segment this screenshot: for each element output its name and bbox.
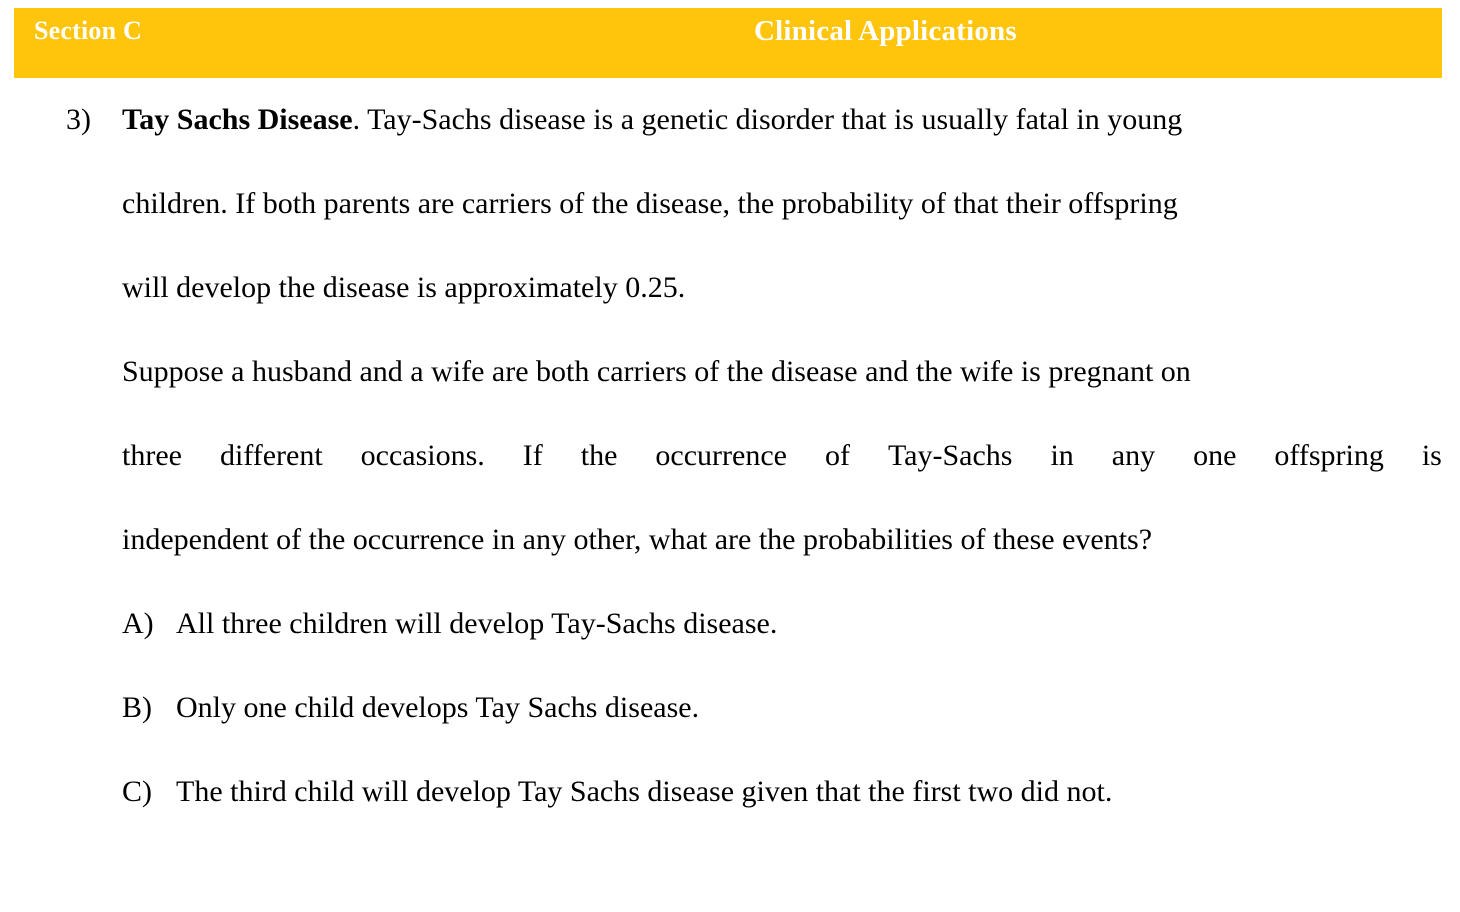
question-line-6: independent of the occurrence in any oth…: [0, 498, 1460, 582]
justified-word: one: [1193, 414, 1236, 498]
question-runin-title: Tay Sachs Disease: [122, 103, 353, 136]
justified-word: three: [122, 414, 182, 498]
sub-item-a-marker: A): [122, 582, 154, 666]
justified-word: any: [1112, 414, 1155, 498]
justified-word: If: [523, 414, 543, 498]
justified-word: in: [1050, 414, 1073, 498]
question-line-4: Suppose a husband and a wife are both ca…: [0, 330, 1460, 414]
question-line-3: will develop the disease is approximatel…: [0, 246, 1460, 330]
question-line-1: Tay Sachs Disease. Tay-Sachs disease is …: [0, 78, 1460, 162]
sub-item-a-text: All three children will develop Tay-Sach…: [0, 582, 1460, 666]
justified-word: occasions.: [361, 414, 485, 498]
question-line-2: children. If both parents are carriers o…: [0, 162, 1460, 246]
section-title: Clinical Applications: [754, 14, 1017, 48]
sub-item-b: B) Only one child develops Tay Sachs dis…: [0, 666, 1460, 750]
justified-word: the: [581, 414, 618, 498]
question-line-5: threedifferentoccasions.Iftheoccurrenceo…: [0, 414, 1460, 498]
sub-item-b-text: Only one child develops Tay Sachs diseas…: [0, 666, 1460, 750]
sub-item-a: A) All three children will develop Tay-S…: [0, 582, 1460, 666]
sub-item-c-text: The third child will develop Tay Sachs d…: [0, 750, 1460, 834]
sub-item-b-marker: B): [122, 666, 152, 750]
justified-word: Tay-Sachs: [888, 414, 1013, 498]
sub-item-c-marker: C): [122, 750, 152, 834]
document-body: 3) Tay Sachs Disease. Tay-Sachs disease …: [0, 78, 1460, 912]
section-label: Section C: [34, 16, 142, 46]
justified-word: different: [220, 414, 323, 498]
justified-word: occurrence: [655, 414, 787, 498]
document-page: Section C Clinical Applications 3) Tay S…: [0, 0, 1460, 912]
sub-item-c: C) The third child will develop Tay Sach…: [0, 750, 1460, 834]
section-header-banner: Section C Clinical Applications: [14, 8, 1442, 78]
justified-word: of: [825, 414, 850, 498]
question-block: 3) Tay Sachs Disease. Tay-Sachs disease …: [0, 78, 1460, 834]
justified-word: offspring: [1274, 414, 1383, 498]
question-number: 3): [66, 78, 118, 162]
question-line-1-text: . Tay-Sachs disease is a genetic disorde…: [353, 103, 1183, 136]
section-header-inner: Section C Clinical Applications: [14, 8, 1442, 78]
justified-word: is: [1422, 414, 1442, 498]
question-first-row: 3) Tay Sachs Disease. Tay-Sachs disease …: [0, 78, 1460, 162]
